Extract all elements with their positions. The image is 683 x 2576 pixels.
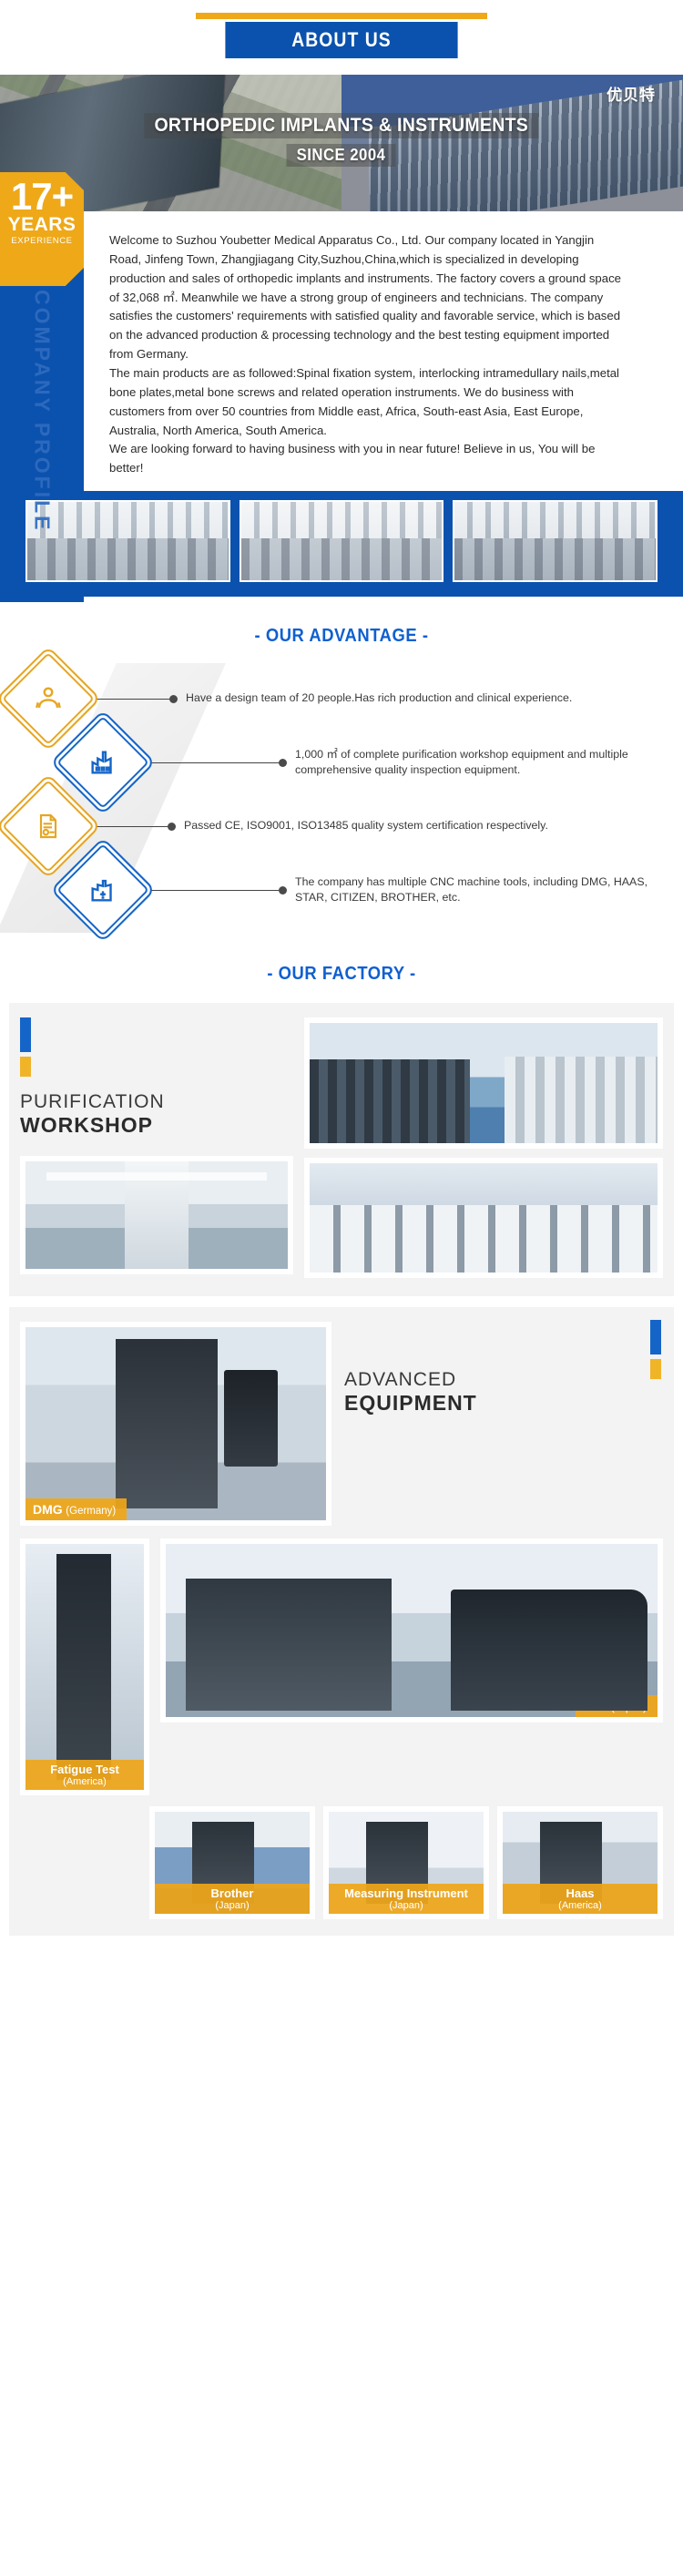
vertical-label-text: COMPANY PROFILE [30, 290, 55, 533]
profile-paragraph-3: We are looking forward to having busines… [109, 440, 628, 478]
haas-photo: Haas (America) [503, 1812, 658, 1914]
machines-photo [310, 1163, 658, 1273]
hero-caption-line1: ORTHOPEDIC IMPLANTS & INSTRUMENTS [144, 113, 538, 138]
facility-photo-strip [0, 491, 683, 597]
about-us-badge: ABOUT US [225, 22, 457, 58]
years-word: YEARS [0, 215, 84, 234]
hero-caption: ORTHOPEDIC IMPLANTS & INSTRUMENTS SINCE … [0, 113, 683, 167]
star-card: Star (Japan) [160, 1538, 663, 1722]
equipment-heading-line2: EQUIPMENT [344, 1391, 663, 1416]
advantage-section: Have a design team of 20 people.Has rich… [0, 656, 683, 940]
star-photo: Star (Japan) [166, 1544, 658, 1717]
dmg-label: DMG (Germany) [25, 1498, 127, 1520]
dmg-photo: DMG (Germany) [25, 1327, 326, 1520]
about-us-header: ABOUT US [0, 0, 683, 75]
brother-card: Brother (Japan) [149, 1806, 315, 1919]
workshop-photo [310, 1023, 658, 1143]
company-profile-vertical-label: COMPANY PROFILE [0, 290, 84, 590]
gold-tick [20, 1057, 31, 1077]
brother-label: Brother (Japan) [155, 1884, 310, 1914]
dmg-country: (Germany) [66, 1506, 116, 1517]
factory-heading-line1: PURIFICATION [20, 1091, 293, 1113]
gold-tick [650, 1359, 661, 1379]
advantage-text-3: Passed CE, ISO9001, ISO13485 quality sys… [176, 818, 548, 834]
blue-tick [20, 1017, 31, 1052]
brother-country: (Japan) [158, 1900, 306, 1911]
measuring-instrument-country: (Japan) [332, 1900, 480, 1911]
haas-country: (America) [506, 1900, 654, 1911]
gold-rule [196, 13, 487, 19]
fatigue-test-card: Fatigue Test (America) [20, 1538, 149, 1795]
years-number: 17+ [0, 179, 84, 215]
experience-word: EXPERIENCE [0, 236, 84, 246]
our-factory-title: - OUR FACTORY - [27, 940, 656, 994]
haas-card: Haas (America) [497, 1806, 663, 1919]
corridor-photo-card [20, 1156, 293, 1274]
fatigue-test-photo: Fatigue Test (America) [25, 1544, 144, 1790]
our-advantage-title: - OUR ADVANTAGE - [27, 602, 656, 656]
haas-name: Haas [506, 1886, 654, 1900]
blue-tick [650, 1320, 661, 1354]
profile-paragraph-1: Welcome to Suzhou Youbetter Medical Appa… [109, 231, 628, 364]
advantage-text-4: The company has multiple CNC machine too… [287, 874, 683, 906]
brother-photo: Brother (Japan) [155, 1812, 310, 1914]
factory-section: PURIFICATION WORKSHOP [9, 1003, 674, 1296]
factory-heading-line2: WORKSHOP [20, 1113, 293, 1138]
advantage-item-4: The company has multiple CNC machine too… [0, 853, 683, 927]
equipment-heading-line1: ADVANCED [344, 1369, 663, 1391]
measuring-instrument-name: Measuring Instrument [332, 1886, 480, 1900]
connector-dot [279, 759, 287, 767]
machines-photo-card [304, 1158, 663, 1278]
star-name: Star [583, 1699, 607, 1713]
haas-label: Haas (America) [503, 1884, 658, 1914]
profile-paragraph-2: The main products are as followed:Spinal… [109, 364, 628, 440]
corridor-photo [25, 1161, 288, 1269]
connector-dot [279, 886, 287, 894]
tick-marks [20, 1017, 293, 1077]
brother-name: Brother [158, 1886, 306, 1900]
hero-caption-line2: SINCE 2004 [287, 144, 396, 167]
company-profile-section: COMPANY PROFILE 17+ YEARS EXPERIENCE Wel… [0, 211, 683, 602]
about-us-page: ABOUT US ORTHOPEDIC IMPLANTS & INSTRUMEN… [0, 0, 683, 1936]
measuring-instrument-card: Measuring Instrument (Japan) [323, 1806, 489, 1919]
dmg-name: DMG [33, 1502, 63, 1517]
fatigue-test-country: (America) [29, 1776, 140, 1787]
measuring-instrument-label: Measuring Instrument (Japan) [329, 1884, 484, 1914]
measuring-instrument-photo: Measuring Instrument (Japan) [329, 1812, 484, 1914]
equipment-heading-block: ADVANCED EQUIPMENT [344, 1322, 663, 1416]
hero-banner: ORTHOPEDIC IMPLANTS & INSTRUMENTS SINCE … [0, 75, 683, 211]
company-profile-text: Welcome to Suzhou Youbetter Medical Appa… [84, 211, 683, 491]
connector-dot [168, 823, 176, 831]
star-label: Star (Japan) [576, 1695, 658, 1717]
star-country: (Japan) [611, 1702, 647, 1713]
facility-photo-2 [240, 500, 444, 582]
equipment-section: DMG (Germany) ADVANCED EQUIPMENT Fatigue… [9, 1307, 674, 1936]
equipment-tick-marks [650, 1320, 661, 1379]
workshop-photo-card [304, 1017, 663, 1149]
facility-photo-3 [453, 500, 658, 582]
connector-dot [169, 695, 178, 703]
purification-workshop-block: PURIFICATION WORKSHOP [20, 1017, 293, 1278]
fatigue-test-label: Fatigue Test (America) [25, 1760, 144, 1790]
years-experience-badge: 17+ YEARS EXPERIENCE [0, 172, 84, 286]
fatigue-test-name: Fatigue Test [29, 1763, 140, 1776]
cnc-machine-icon [50, 837, 156, 943]
advantage-text-1: Have a design team of 20 people.Has rich… [178, 690, 572, 707]
dmg-card: DMG (Germany) [20, 1322, 331, 1526]
advantage-text-2: 1,000 ㎡ of complete purification worksho… [287, 747, 683, 779]
